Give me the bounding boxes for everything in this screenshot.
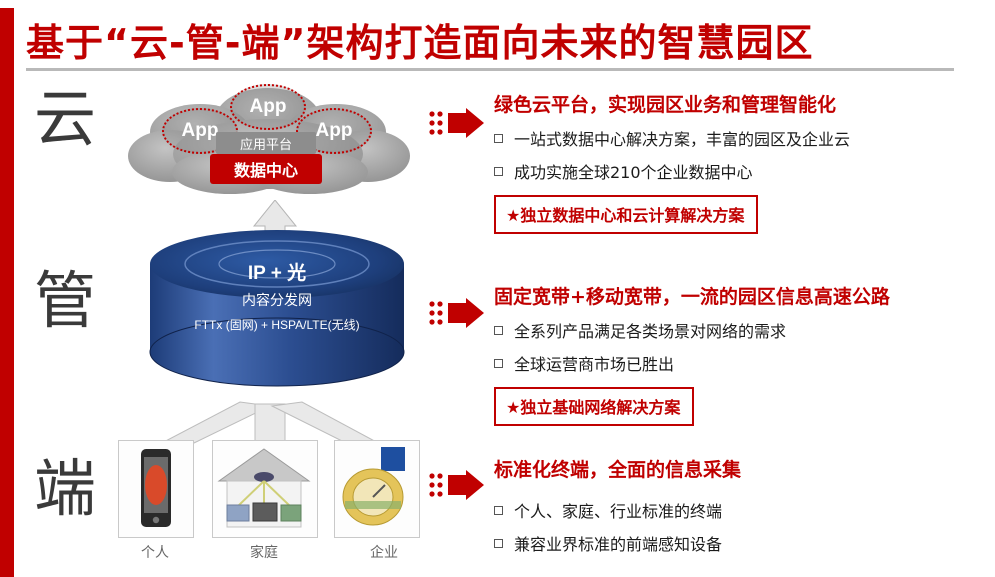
device-graphic: 个人 家庭 企业 [100,430,430,570]
bullet-square-icon [494,134,503,143]
bullet-item: 兼容业界标准的前端感知设备 [494,531,994,555]
section-heading: 绿色云平台，实现园区业务和管理智能化 [494,90,994,117]
smartphone-icon [118,440,194,538]
bullet-item: 成功实施全球210个企业数据中心 [494,159,994,183]
section-heading: 固定宽带+移动宽带，一流的园区信息高速公路 [494,282,994,309]
house-icon [212,440,318,538]
red-arrow-icon [428,108,490,142]
left-accent-bar-cap [0,0,14,8]
meter-icon [334,440,420,538]
bullet-text: 全球运营商市场已胜出 [514,351,674,375]
red-arrow-icon [428,470,490,504]
cloud-graphic: App App App 应用平台 数据中心 [120,80,420,210]
section-device: 标准化终端，全面的信息采集 个人、家庭、行业标准的终端 兼容业界标准的前端感知设… [494,455,994,555]
section-cloud: 绿色云平台，实现园区业务和管理智能化 一站式数据中心解决方案，丰富的园区及企业云… [494,90,994,234]
axis-label-pipe: 管 [34,270,96,332]
bullet-text: 个人、家庭、行业标准的终端 [514,498,722,522]
bullet-square-icon [494,326,503,335]
device-label-enterprise: 企业 [334,542,434,562]
application-platform-label: 应用平台 [216,132,316,154]
bullet-item: 全球运营商市场已胜出 [494,351,994,375]
bullet-square-icon [494,167,503,176]
bullet-item: 全系列产品满足各类场景对网络的需求 [494,318,994,342]
highlight-box: ★独立基础网络解决方案 [494,387,694,426]
section-heading: 标准化终端，全面的信息采集 [494,455,994,482]
bullet-item: 个人、家庭、行业标准的终端 [494,498,994,522]
bullet-item: 一站式数据中心解决方案，丰富的园区及企业云 [494,126,994,150]
cylinder-shape-icon [142,228,412,398]
red-arrow-icon [428,298,490,332]
bullet-text: 成功实施全球210个企业数据中心 [514,159,753,183]
bullet-square-icon [494,359,503,368]
bullet-text: 兼容业界标准的前端感知设备 [514,531,722,555]
device-label-personal: 个人 [105,542,205,562]
section-pipe: 固定宽带+移动宽带，一流的园区信息高速公路 全系列产品满足各类场景对网络的需求 … [494,282,994,426]
device-label-home: 家庭 [214,542,314,562]
app-bubble: App [230,84,306,130]
pipe-graphic: IP + 光 内容分发网 FTTx (固网) + HSPA/LTE(无线) [142,228,412,398]
axis-label-device: 端 [34,458,96,520]
data-center-label: 数据中心 [210,154,322,184]
bullet-square-icon [494,506,503,515]
left-accent-bar [0,0,14,577]
highlight-box: ★独立数据中心和云计算解决方案 [494,195,758,234]
bullet-text: 全系列产品满足各类场景对网络的需求 [514,318,786,342]
bullet-square-icon [494,539,503,548]
axis-label-cloud: 云 [34,88,96,150]
bullet-text: 一站式数据中心解决方案，丰富的园区及企业云 [514,126,850,150]
page-title: 基于“云-管-端”架构打造面向未来的智慧园区 [26,12,956,64]
title-divider [26,68,954,71]
